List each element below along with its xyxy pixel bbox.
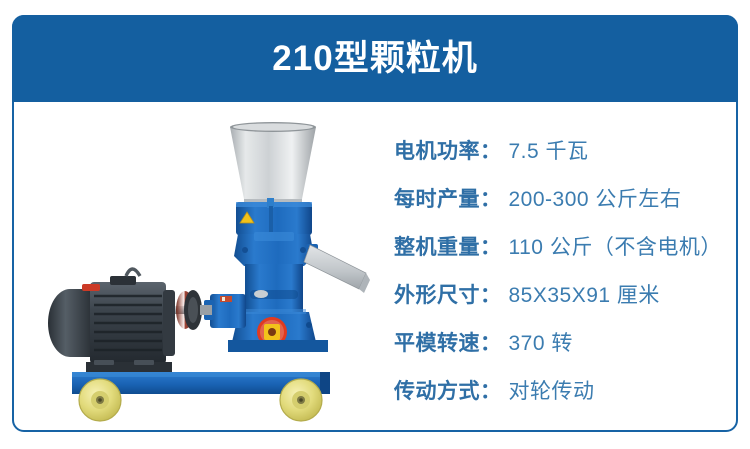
- spec-label: 平模转速：: [394, 327, 502, 357]
- spec-row-transmission: 传动方式： 对轮传动: [394, 366, 736, 414]
- spec-value: 对轮传动: [509, 375, 595, 405]
- spec-label: 每时产量：: [394, 183, 502, 213]
- machine-image-pane: [14, 104, 386, 430]
- upper-housing: [236, 198, 312, 235]
- pellet-machine-illustration: [14, 104, 386, 430]
- spec-label: 电机功率：: [394, 135, 502, 165]
- product-card: 210型颗粒机: [12, 15, 738, 432]
- spec-row-hourly-output: 每时产量： 200-300 公斤左右: [394, 174, 736, 222]
- page-title: 210型颗粒机: [272, 41, 477, 76]
- spec-row-motor-power: 电机功率： 7.5 千瓦: [394, 126, 736, 174]
- spec-label: 传动方式：: [394, 375, 502, 405]
- spec-value: 110 公斤（不含电机）: [509, 231, 722, 261]
- spec-label: 整机重量：: [394, 231, 502, 261]
- electric-motor: [48, 269, 175, 373]
- spec-value: 7.5 千瓦: [509, 135, 589, 165]
- hopper-funnel: [230, 122, 316, 203]
- spec-row-total-weight: 整机重量： 110 公斤（不含电机）: [394, 222, 736, 270]
- spec-row-dimensions: 外形尺寸： 85X35X91 厘米: [394, 270, 736, 318]
- spec-value: 200-300 公斤左右: [509, 183, 682, 213]
- card-body: 电机功率： 7.5 千瓦 每时产量： 200-300 公斤左右 整机重量： 11…: [14, 104, 736, 430]
- spec-value: 85X35X91 厘米: [509, 279, 660, 309]
- spec-row-die-speed: 平模转速： 370 转: [394, 318, 736, 366]
- caster-wheel-right: [280, 379, 322, 421]
- card-header: 210型颗粒机: [12, 15, 738, 102]
- shaft-coupling: [169, 290, 212, 330]
- spec-label: 外形尺寸：: [394, 279, 502, 309]
- spec-value: 370 转: [509, 327, 573, 357]
- specification-list: 电机功率： 7.5 千瓦 每时产量： 200-300 公斤左右 整机重量： 11…: [386, 104, 736, 430]
- discharge-chute: [304, 245, 370, 293]
- caster-wheel-left: [79, 379, 121, 421]
